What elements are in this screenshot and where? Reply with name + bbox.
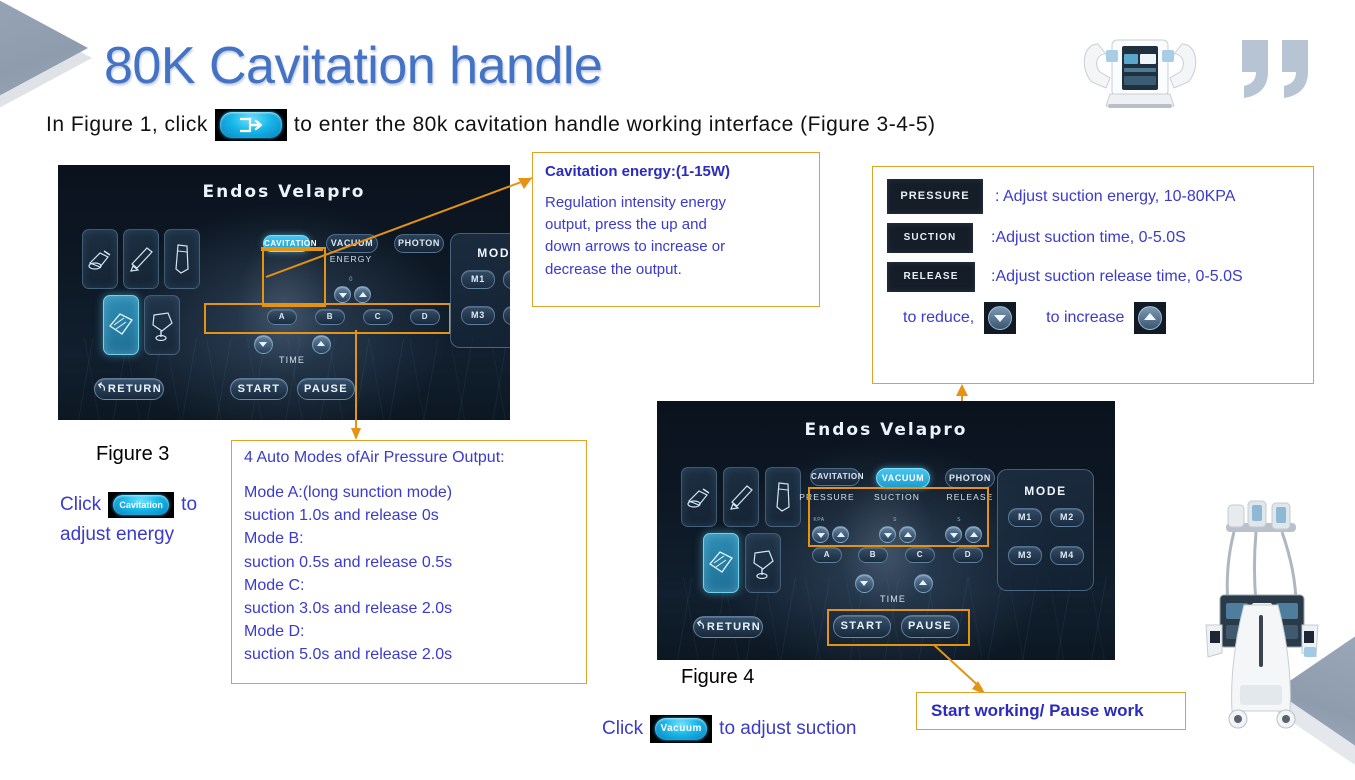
mode-m2[interactable]: M2	[503, 270, 510, 289]
handle-card-probe[interactable]	[164, 229, 200, 289]
callout-modes-heading: 4 Auto Modes ofAir Pressure Output:	[244, 449, 574, 467]
callout-row-release: RELEASE :Adjust suction release time, 0-…	[887, 262, 1299, 292]
vacuum-chip-label: Vacuum	[655, 718, 707, 740]
return-button[interactable]: RETURN	[693, 616, 763, 638]
callout-energy-line: output, press the up and	[545, 214, 807, 236]
handle-card-probe[interactable]	[765, 467, 801, 527]
handle-cavitation-icon	[685, 483, 713, 511]
subtitle-row: In Figure 1, click to enter the 80k cavi…	[46, 108, 1076, 142]
callout-start-text: Start working/ Pause work	[931, 701, 1144, 721]
mode-m3[interactable]: M3	[461, 306, 495, 325]
mode-m4[interactable]: M4	[503, 306, 510, 325]
handle-card-rf[interactable]	[723, 467, 759, 527]
enter-arrow-icon	[220, 112, 282, 138]
auto-mode-d[interactable]: D	[953, 547, 983, 563]
tab-cavitation[interactable]: CAVITATION	[810, 468, 860, 486]
handle-card-roller[interactable]	[103, 295, 139, 355]
handle-roller-icon	[106, 310, 136, 340]
handle-card-roller[interactable]	[703, 533, 739, 593]
figure3-click-line-2: adjust energy	[60, 524, 174, 546]
subtitle-after: to enter the 80k cavitation handle worki…	[294, 113, 936, 137]
figure3-brand: Endos Velapro	[58, 182, 510, 202]
chevron-up-icon	[1138, 306, 1162, 330]
figure3-caption: Figure 3	[96, 443, 169, 466]
cavitation-chip-label: Cavitation	[113, 495, 169, 515]
return-arrow-icon	[96, 382, 107, 393]
pause-button[interactable]: PAUSE	[297, 378, 355, 400]
handle-rf-icon	[727, 482, 755, 512]
figure4-brand: Endos Velapro	[657, 420, 1115, 440]
cavitation-chip-button[interactable]: Cavitation	[108, 492, 174, 518]
reduce-label: to reduce,	[903, 309, 974, 327]
callout-modes-line: Mode A:(long sunction mode)	[244, 481, 574, 504]
figure4-device-screen: Endos Velapro CAVITATION	[657, 401, 1115, 660]
return-button[interactable]: RETURN	[94, 378, 164, 400]
callout-row-adjust: to reduce, to increase	[903, 302, 1299, 334]
subtitle-before: In Figure 1, click	[46, 113, 208, 137]
quote-mark-icon	[1238, 38, 1318, 105]
highlight-start-pause	[827, 609, 970, 646]
handle-rf-icon	[127, 244, 155, 274]
callout-modes-line: suction 3.0s and release 2.0s	[244, 597, 574, 620]
click-label: Click	[602, 718, 643, 740]
callout-modes-line: Mode C:	[244, 574, 574, 597]
handle-vacuum-icon	[749, 547, 777, 579]
time-decrease-button[interactable]	[254, 335, 273, 354]
mode-m1[interactable]: M1	[461, 270, 495, 289]
return-label: RETURN	[108, 383, 162, 395]
callout-text-release: :Adjust suction release time, 0-5.0S	[991, 268, 1243, 286]
time-increase-button[interactable]	[914, 574, 933, 593]
chevron-down-icon	[988, 306, 1012, 330]
mode-m1[interactable]: M1	[1008, 508, 1042, 527]
handle-cavitation-icon	[86, 245, 114, 273]
page-title: 80K Cavitation handle	[104, 36, 602, 96]
click-label: Click	[60, 494, 101, 516]
increase-label: to increase	[1046, 309, 1124, 327]
mode-m2[interactable]: M2	[1050, 508, 1084, 527]
reduce-button[interactable]	[984, 302, 1016, 334]
figure4-caption: Figure 4	[681, 666, 754, 689]
highlight-energy	[262, 247, 326, 307]
chip-pressure: PRESSURE	[887, 179, 983, 214]
start-button[interactable]: START	[230, 378, 288, 400]
return-label: RETURN	[707, 621, 761, 633]
time-label: TIME	[855, 594, 931, 604]
tab-photon[interactable]: PHOTON	[945, 468, 995, 488]
handle-card-vacuum[interactable]	[144, 295, 180, 355]
callout-row-pressure: PRESSURE : Adjust suction energy, 10-80K…	[887, 179, 1299, 214]
device-photo-handheld	[1076, 18, 1204, 108]
handle-card-rf[interactable]	[123, 229, 159, 289]
handle-probe-icon	[772, 481, 794, 513]
handle-probe-icon	[171, 243, 193, 275]
enter-arrow-glyph	[238, 116, 264, 134]
auto-mode-a[interactable]: A	[812, 547, 842, 563]
mode-m3[interactable]: M3	[1008, 546, 1042, 565]
handle-card-vacuum[interactable]	[745, 533, 781, 593]
device-photo-trolley	[1186, 485, 1336, 735]
callout-energy-heading: Cavitation energy:(1-15W)	[545, 163, 807, 180]
highlight-params	[808, 487, 989, 547]
time-label: TIME	[254, 355, 330, 365]
callout-modes-line: Mode D:	[244, 620, 574, 643]
callout-pressure-params: PRESSURE : Adjust suction energy, 10-80K…	[872, 166, 1314, 384]
callout-row-suction: SUCTION :Adjust suction time, 0-5.0S	[887, 223, 1299, 253]
tab-vacuum[interactable]: VACUUM	[326, 234, 378, 253]
callout-text-suction: :Adjust suction time, 0-5.0S	[991, 229, 1186, 247]
callout-energy-line: Regulation intensity energy	[545, 192, 807, 214]
auto-mode-b[interactable]: B	[858, 547, 888, 563]
vacuum-chip-button[interactable]: Vacuum	[650, 715, 712, 743]
callout-modes-line: suction 1.0s and release 0s	[244, 504, 574, 527]
highlight-auto-modes	[204, 303, 451, 334]
callout-modes-line: Mode B:	[244, 527, 574, 550]
energy-decrease-button[interactable]	[334, 286, 351, 303]
mode-panel-title: MODE	[451, 246, 510, 260]
enter-interface-button[interactable]	[215, 109, 287, 141]
mode-panel-title: MODE	[998, 484, 1093, 498]
mode-panel: MODE M1 M2 M3 M4	[997, 469, 1094, 591]
handle-vacuum-icon	[148, 309, 176, 341]
callout-energy-line: decrease the output.	[545, 259, 807, 281]
figure4-click-line: Click Vacuum to adjust suction	[602, 715, 856, 743]
chip-suction: SUCTION	[887, 223, 973, 253]
callout-auto-modes: 4 Auto Modes ofAir Pressure Output: Mode…	[231, 440, 587, 684]
mode-m4[interactable]: M4	[1050, 546, 1084, 565]
chip-release: RELEASE	[887, 262, 975, 292]
return-arrow-icon	[695, 620, 706, 631]
handle-card-cavitation[interactable]	[82, 229, 118, 289]
mode-panel: MODE M1 M2 M3 M4	[450, 233, 510, 348]
callout-modes-line: suction 0.5s and release 0.5s	[244, 551, 574, 574]
click-label-after: to adjust suction	[719, 718, 856, 740]
figure3-device-screen: Endos Velapro CAVITATION	[58, 165, 510, 420]
callout-cavitation-energy: Cavitation energy:(1-15W) Regulation int…	[532, 152, 820, 307]
tab-photon[interactable]: PHOTON	[394, 234, 444, 253]
callout-modes-line: suction 5.0s and release 2.0s	[244, 643, 574, 666]
callout-start-working: Start working/ Pause work	[916, 692, 1186, 730]
energy-increase-button[interactable]	[354, 286, 371, 303]
tab-vacuum[interactable]: VACUUM	[876, 468, 930, 488]
time-increase-button[interactable]	[312, 335, 331, 354]
figure3-click-line: Click Cavitation to	[60, 492, 197, 518]
handle-roller-icon	[706, 548, 736, 578]
callout-energy-line: down arrows to increase or	[545, 236, 807, 258]
time-decrease-button[interactable]	[855, 574, 874, 593]
handle-card-cavitation[interactable]	[681, 467, 717, 527]
callout-text-pressure: : Adjust suction energy, 10-80KPA	[995, 188, 1235, 206]
click-label-mid: to	[181, 494, 197, 516]
increase-button[interactable]	[1134, 302, 1166, 334]
auto-mode-c[interactable]: C	[905, 547, 935, 563]
